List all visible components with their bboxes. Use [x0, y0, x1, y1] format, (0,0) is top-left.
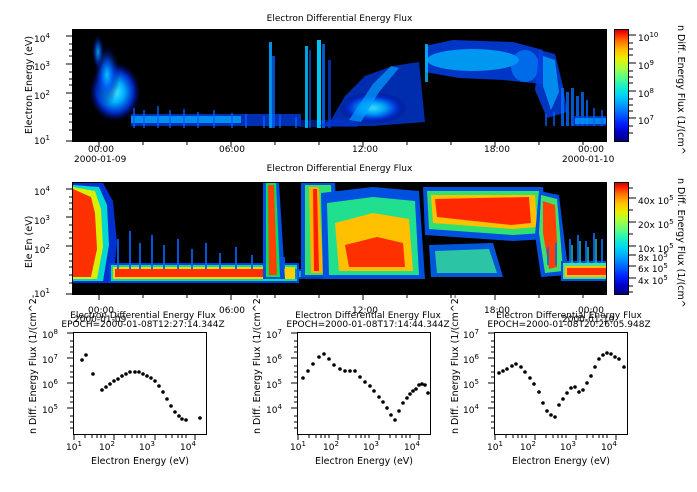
panel4-subtitle: EPOCH=2000-01-08T17:14:44.344Z	[253, 320, 483, 330]
panel1-cbar-tick-2: 108	[638, 87, 654, 100]
panel1-title: Electron Differential Energy Flux	[72, 14, 607, 24]
panel1-xtick-1: 06:00	[219, 145, 245, 155]
panel4-xtick-2: 103	[363, 440, 379, 453]
panel1-ytick-1: 103	[34, 60, 50, 73]
panel2-cbar-tick-1: 20x 105	[638, 218, 674, 231]
panel2-colorbar-label: n Diff. Energy Flux (1/(cm^	[675, 178, 686, 308]
panel1-cbar-tick-3: 107	[638, 114, 654, 127]
panel5-ytick-2: 105	[463, 378, 479, 391]
panel1-plot-frame	[72, 29, 607, 142]
panel4-xtick-1: 102	[323, 440, 339, 453]
panel3-xtick-2: 103	[139, 440, 155, 453]
panel5-xtick-0: 101	[487, 440, 503, 453]
panel3-ytick-2: 106	[42, 378, 58, 391]
panel5-subtitle: EPOCH=2000-01-08T20:26:05.948Z	[454, 320, 684, 330]
panel3-xlabel: Electron Energy (eV)	[73, 456, 207, 467]
panel5-ytick-1: 106	[463, 353, 479, 366]
panel1-ylabel: Electron Energy (eV)	[24, 36, 35, 134]
panel1-colorbar-gradient	[615, 30, 628, 141]
panel5-xlabel: Electron Energy (eV)	[494, 456, 628, 467]
panel4-ytick-3: 104	[266, 403, 282, 416]
panel1-xtick-4: 00:00	[578, 145, 604, 155]
panel2-ylabel: Ele En (eV)	[24, 216, 35, 268]
panel4-scatter-points	[298, 333, 430, 434]
panel1-xtick-2: 12:00	[352, 145, 378, 155]
panel5-xtick-3: 104	[601, 440, 617, 453]
panel2-ytick-0: 104	[34, 185, 50, 198]
panel5-plot-frame	[494, 332, 628, 435]
panel4-ylabel: n Diff. Energy Flux (1/(cm^2-	[252, 295, 263, 434]
panel1-ytick-3: 101	[34, 134, 50, 147]
panel5-scatter-points	[495, 333, 627, 434]
panel1-ytick-2: 102	[34, 89, 50, 102]
panel3-xtick-3: 104	[180, 440, 196, 453]
panel1-spectrogram-image	[73, 30, 606, 141]
panel2-ytick-1: 103	[34, 214, 50, 227]
panel4-xtick-3: 104	[404, 440, 420, 453]
panel2-plot-frame	[72, 182, 607, 295]
panel1-cbar-tick-0: 1010	[638, 31, 658, 44]
panel4-xtick-0: 101	[290, 440, 306, 453]
panel1-colorbar-label: n Diff. Energy Flux (1/(cm^	[675, 25, 686, 155]
panel5-ytick-0: 107	[463, 328, 479, 341]
panel4-xlabel: Electron Energy (eV)	[297, 456, 431, 467]
panel3-ylabel: n Diff. Energy Flux (1/(cm^2-	[28, 295, 39, 434]
panel5-ylabel: n Diff. Energy Flux (1/(cm^2-	[450, 295, 461, 434]
panel1-cbar-tick-1: 109	[638, 59, 654, 72]
panel1-xtick-3: 18:00	[484, 145, 510, 155]
panel3-ytick-1: 107	[42, 353, 58, 366]
panel3-xtick-1: 102	[99, 440, 115, 453]
panel3-ytick-3: 105	[42, 403, 58, 416]
panel3-ytick-0: 108	[42, 328, 58, 341]
panel2-cbar-tick-0: 40x 105	[638, 194, 674, 207]
panel1-ytick-0: 104	[34, 32, 50, 45]
panel1-xtick-0: 00:00	[88, 145, 114, 155]
panel3-scatter-points	[74, 333, 206, 434]
panel4-ytick-0: 107	[266, 328, 282, 341]
panel3-plot-frame	[73, 332, 207, 435]
panel2-title: Electron Differential Energy Flux	[72, 164, 607, 174]
panel1-colorbar	[614, 29, 629, 142]
panel2-colorbar-gradient	[615, 183, 628, 294]
panel5-xtick-1: 102	[520, 440, 536, 453]
panel2-ytick-2: 102	[34, 243, 50, 256]
panel4-ytick-1: 106	[266, 353, 282, 366]
panel3-xtick-0: 101	[66, 440, 82, 453]
panel2-cbar-tick-5: 4x 105	[638, 274, 668, 287]
panel5-ytick-3: 104	[463, 403, 479, 416]
panel2-colorbar	[614, 182, 629, 295]
panel5-xtick-2: 103	[560, 440, 576, 453]
panel4-ytick-2: 105	[266, 378, 282, 391]
panel4-plot-frame	[297, 332, 431, 435]
panel3-subtitle: EPOCH=2000-01-08T12:27:14.344Z	[28, 320, 258, 330]
panel2-spectrogram-image	[73, 183, 606, 294]
